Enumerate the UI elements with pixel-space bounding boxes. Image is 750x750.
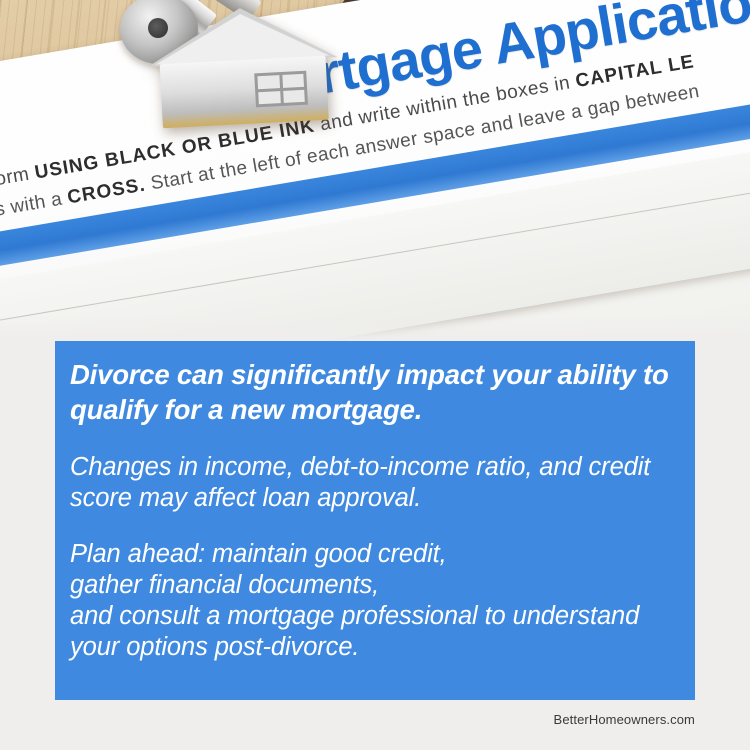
form-section-label: Information [0, 236, 2, 282]
footer-brand[interactable]: BetterHomeowners.com [0, 712, 695, 727]
house-window [254, 71, 308, 108]
form-instruction-2-bold: CROSS. [66, 175, 147, 209]
social-media-card: Mortgage Application complete this form … [0, 0, 750, 750]
house-keychain-icon [145, 3, 341, 135]
message-panel: Divorce can significantly impact your ab… [55, 341, 695, 700]
hero-photo: Mortgage Application complete this form … [0, 0, 750, 345]
panel-paragraph-1: Changes in income, debt-to-income ratio,… [70, 452, 680, 514]
panel-headline: Divorce can significantly impact your ab… [70, 357, 680, 427]
panel-paragraph-2: Plan ahead: maintain good credit,gather … [70, 539, 680, 663]
house-body [160, 56, 329, 129]
